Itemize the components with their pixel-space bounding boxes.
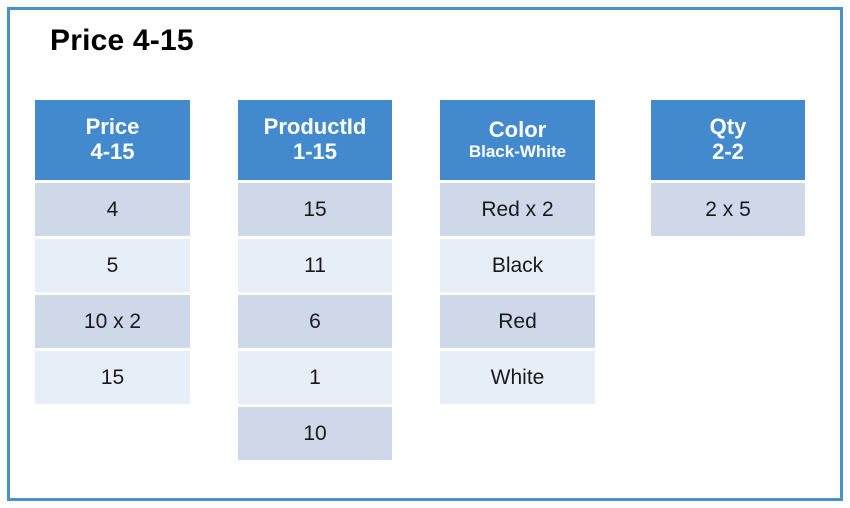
- cell[interactable]: 10 x 2: [35, 295, 190, 348]
- cell[interactable]: 15: [238, 183, 392, 236]
- column-price: Price4-154510 x 215: [35, 100, 190, 404]
- column-header-range: 2-2: [712, 140, 744, 165]
- cell[interactable]: 4: [35, 183, 190, 236]
- column-header-price[interactable]: Price4-15: [35, 100, 190, 180]
- cell[interactable]: 10: [238, 407, 392, 460]
- slide-canvas: Price 4-15 Price4-154510 x 215ProductId1…: [0, 0, 850, 508]
- column-header-qty[interactable]: Qty2-2: [651, 100, 805, 180]
- cell[interactable]: 1: [238, 351, 392, 404]
- column-header-title: Qty: [710, 115, 747, 140]
- column-header-range: 1-15: [293, 140, 337, 165]
- column-header-productid[interactable]: ProductId1-15: [238, 100, 392, 180]
- cell[interactable]: 5: [35, 239, 190, 292]
- cell[interactable]: White: [440, 351, 595, 404]
- column-header-range: 4-15: [90, 140, 134, 165]
- column-productid: ProductId1-1515116110: [238, 100, 392, 460]
- column-header-range: Black-White: [469, 142, 566, 161]
- cell[interactable]: 15: [35, 351, 190, 404]
- cell[interactable]: Red: [440, 295, 595, 348]
- column-header-title: ProductId: [264, 115, 367, 140]
- column-qty: Qty2-22 x 5: [651, 100, 805, 236]
- column-header-title: Price: [86, 115, 140, 140]
- column-header-color[interactable]: ColorBlack-White: [440, 100, 595, 180]
- cell[interactable]: 2 x 5: [651, 183, 805, 236]
- cell[interactable]: 6: [238, 295, 392, 348]
- cell[interactable]: Black: [440, 239, 595, 292]
- column-header-title: Color: [489, 118, 546, 143]
- page-title: Price 4-15: [50, 24, 194, 58]
- cell[interactable]: 11: [238, 239, 392, 292]
- column-color: ColorBlack-WhiteRed x 2BlackRedWhite: [440, 100, 595, 404]
- cell[interactable]: Red x 2: [440, 183, 595, 236]
